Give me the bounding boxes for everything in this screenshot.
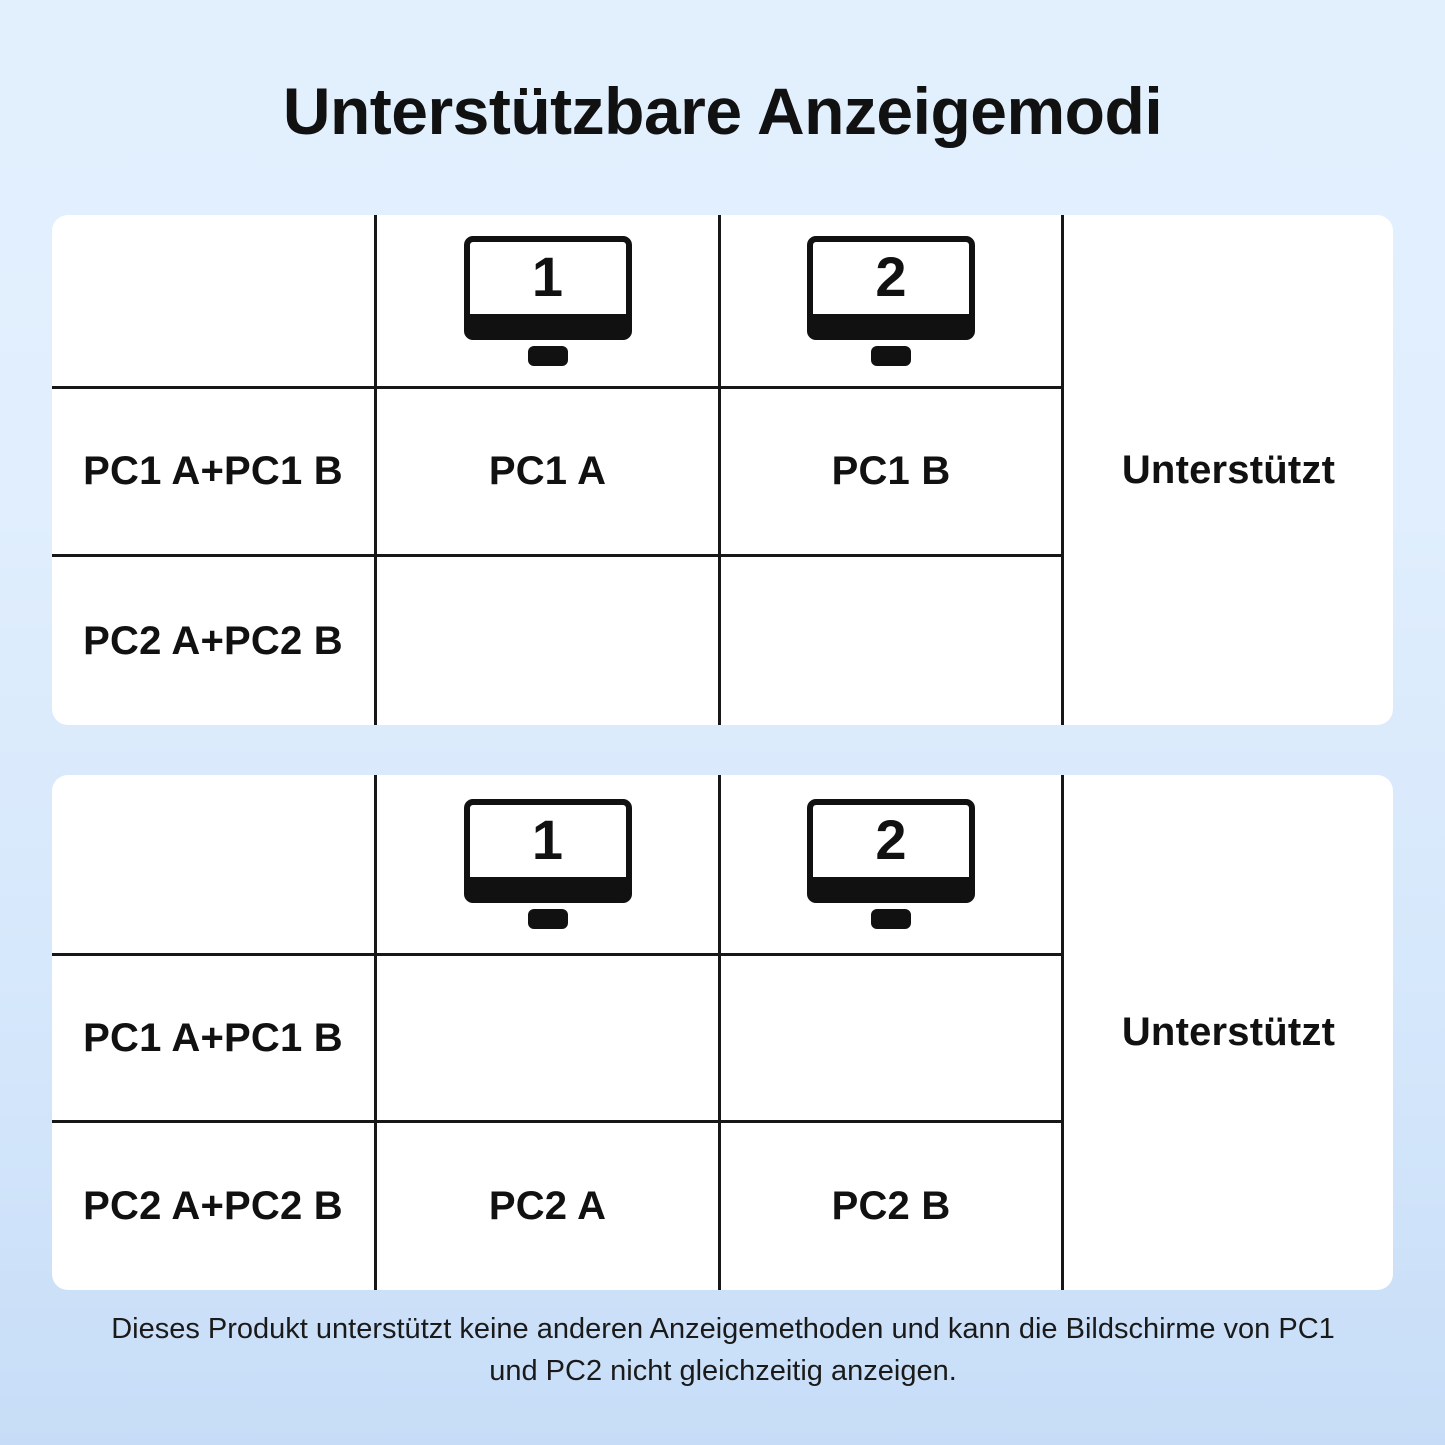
monitor-stand-icon — [528, 346, 568, 366]
table-1-row-1-monitor-2-value: PC1 B — [721, 389, 1061, 554]
table-2-row-2-monitor-1-value: PC2 A — [377, 1123, 718, 1290]
monitor-number-label: 1 — [464, 236, 632, 318]
table-1-header-monitor-1: 1 — [377, 215, 718, 386]
table-2-header-monitor-1: 1 — [377, 775, 718, 953]
status-badge: Unterstützt — [1064, 215, 1393, 725]
page-title: Unterstützbare Anzeigemodi — [0, 78, 1445, 144]
table-1-row-1-monitor-1-value: PC1 A — [377, 389, 718, 554]
monitor-icon: 1 — [464, 799, 632, 929]
monitor-base-bar-icon — [470, 314, 626, 340]
monitor-stand-icon — [871, 346, 911, 366]
table-row: PC1 A+PC1 B — [52, 956, 374, 1120]
table-2-header-monitor-2: 2 — [721, 775, 1061, 953]
monitor-base-bar-icon — [470, 877, 626, 903]
table-1-header-monitor-2: 2 — [721, 215, 1061, 386]
status-badge: Unterstützt — [1064, 775, 1393, 1290]
monitor-base-bar-icon — [813, 877, 969, 903]
table-row: PC1 A+PC1 B — [52, 389, 374, 554]
table-2-header-label-cell — [52, 775, 374, 953]
table-row: PC2 A+PC2 B — [52, 557, 374, 725]
table-2-row-1-monitor-2-value — [721, 956, 1061, 1120]
table-1-row-2-monitor-2-value — [721, 557, 1061, 725]
monitor-number-label: 1 — [464, 799, 632, 881]
monitor-base-bar-icon — [813, 314, 969, 340]
monitor-number-label: 2 — [807, 799, 975, 881]
table-1-header-label-cell — [52, 215, 374, 386]
monitor-icon: 1 — [464, 236, 632, 366]
display-mode-table-2: 1 2 PC1 A+PC1 B PC2 A+PC2 B PC2 A PC2 B … — [52, 775, 1393, 1290]
footnote-text: Dieses Produkt unterstützt keine anderen… — [88, 1308, 1358, 1392]
monitor-number-label: 2 — [807, 236, 975, 318]
table-1-row-2-monitor-1-value — [377, 557, 718, 725]
monitor-icon: 2 — [807, 799, 975, 929]
table-row: PC2 A+PC2 B — [52, 1123, 374, 1290]
display-mode-table-1: 1 2 PC1 A+PC1 B PC1 A PC1 B PC2 A+PC2 B … — [52, 215, 1393, 725]
monitor-stand-icon — [871, 909, 911, 929]
table-2-row-1-monitor-1-value — [377, 956, 718, 1120]
table-2-row-2-monitor-2-value: PC2 B — [721, 1123, 1061, 1290]
monitor-stand-icon — [528, 909, 568, 929]
table-1-grid: 1 2 PC1 A+PC1 B PC1 A PC1 B PC2 A+PC2 B … — [52, 215, 1393, 725]
monitor-icon: 2 — [807, 236, 975, 366]
table-2-grid: 1 2 PC1 A+PC1 B PC2 A+PC2 B PC2 A PC2 B … — [52, 775, 1393, 1290]
